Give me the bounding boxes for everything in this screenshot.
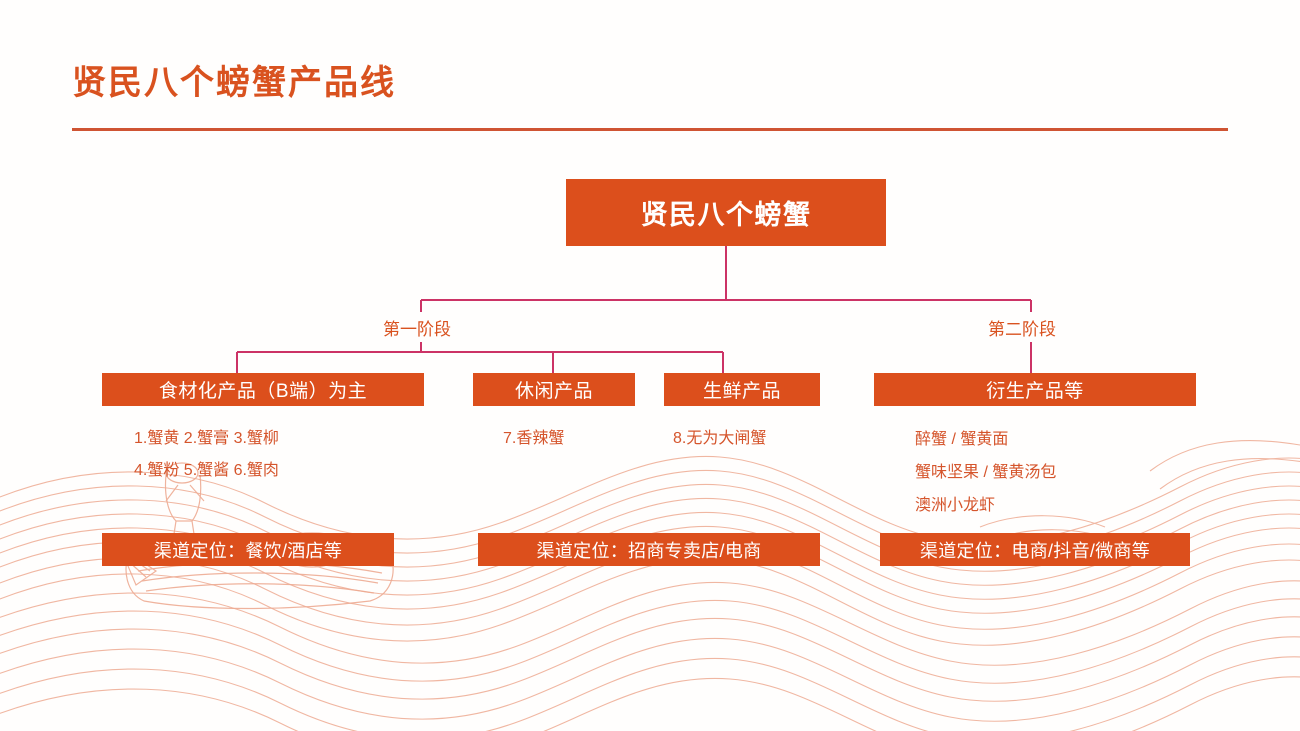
category-box-fresh[interactable]: 生鲜产品 — [664, 373, 820, 406]
category-box-derivative[interactable]: 衍生产品等 — [874, 373, 1196, 406]
item-list-fresh: 8.无为大闸蟹 — [673, 423, 766, 455]
category-box-food-ingredients[interactable]: 食材化产品（B端）为主 — [102, 373, 424, 406]
channel-box-catering[interactable]: 渠道定位：餐饮/酒店等 — [102, 533, 394, 566]
list-item: 7.香辣蟹 — [503, 423, 564, 455]
item-list-leisure: 7.香辣蟹 — [503, 423, 564, 455]
list-item: 醉蟹 / 蟹黄面 — [915, 423, 1056, 456]
list-item: 蟹味坚果 / 蟹黄汤包 — [915, 456, 1056, 489]
slide-canvas: 贤民八个螃蟹产品线 贤民八个螃蟹 第一阶段 第二阶段 食材化产品（B端）为主 休… — [0, 0, 1300, 731]
category-box-leisure[interactable]: 休闲产品 — [473, 373, 635, 406]
item-list-food-ingredients: 1.蟹黄 2.蟹膏 3.蟹柳 4.蟹粉 5.蟹酱 6.蟹肉 — [134, 423, 279, 487]
stage-label-1: 第一阶段 — [383, 315, 451, 340]
org-chart-connectors — [0, 0, 1300, 731]
list-item: 4.蟹粉 5.蟹酱 6.蟹肉 — [134, 455, 279, 487]
item-list-derivative: 醉蟹 / 蟹黄面 蟹味坚果 / 蟹黄汤包 澳洲小龙虾 — [915, 423, 1056, 522]
stage-label-2: 第二阶段 — [988, 315, 1056, 340]
list-item: 澳洲小龙虾 — [915, 489, 1056, 522]
list-item: 8.无为大闸蟹 — [673, 423, 766, 455]
page-title: 贤民八个螃蟹产品线 — [72, 55, 396, 104]
channel-box-franchise-ecommerce[interactable]: 渠道定位：招商专卖店/电商 — [478, 533, 820, 566]
root-node-box[interactable]: 贤民八个螃蟹 — [566, 179, 886, 246]
title-divider — [72, 128, 1228, 131]
list-item: 1.蟹黄 2.蟹膏 3.蟹柳 — [134, 423, 279, 455]
channel-box-ecommerce-douyin[interactable]: 渠道定位：电商/抖音/微商等 — [880, 533, 1190, 566]
